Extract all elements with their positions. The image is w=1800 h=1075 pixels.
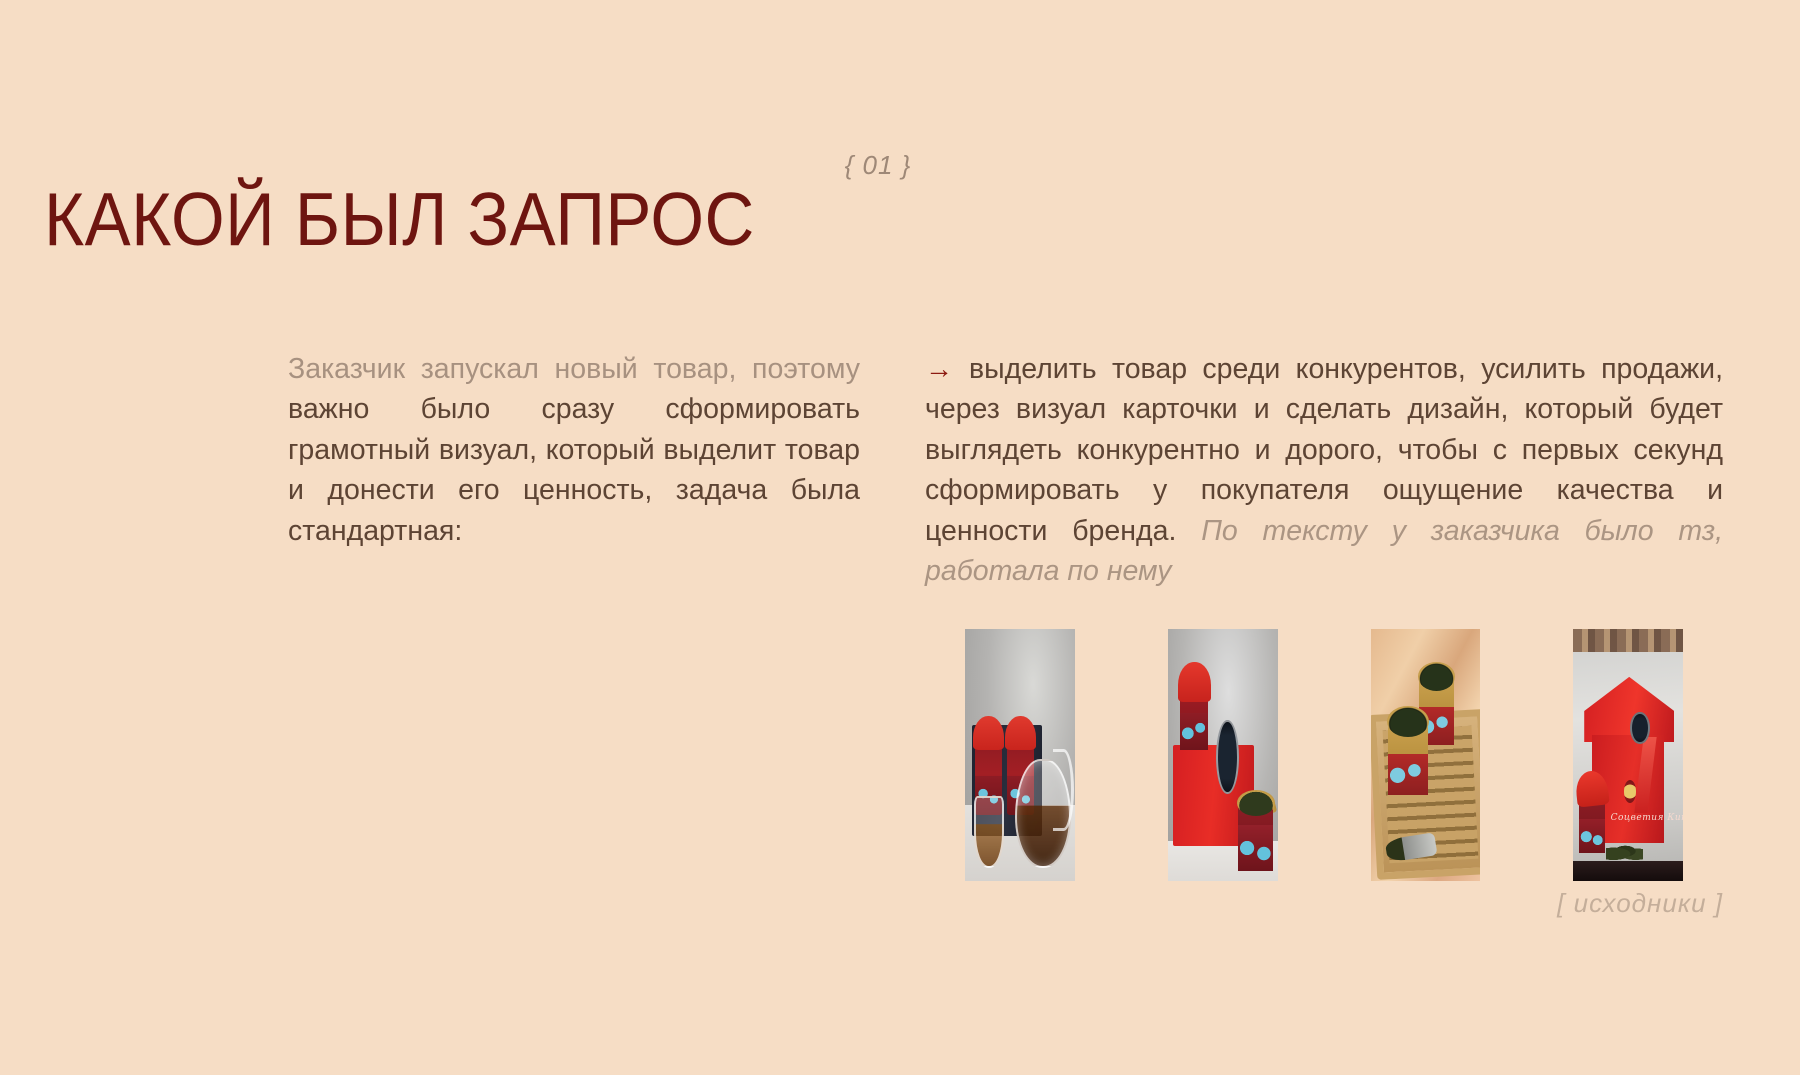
red-box-with-open-tin-image <box>1168 629 1278 881</box>
slide-root: КАКОЙ БЫЛ ЗАПРОС { 01 } Заказчик запуска… <box>0 0 1800 1075</box>
tea-gift-set-with-teapot-image <box>965 629 1075 881</box>
slide-header: КАКОЙ БЫЛ ЗАПРОС { 01 } <box>44 134 911 306</box>
gallery-item[interactable] <box>965 629 1075 881</box>
house-shaped-gift-box-image: Соцветия Китая <box>1573 629 1683 881</box>
gift-box-script-label: Соцветия Китая <box>1611 813 1683 823</box>
arrow-right-icon: → <box>925 353 969 384</box>
right-text-column: →выделить товар среди конкурентов, усили… <box>925 349 1723 592</box>
left-paragraph-rest: важно было сразу сформировать грамотный … <box>288 393 860 546</box>
right-paragraph: →выделить товар среди конкурентов, усили… <box>925 349 1723 592</box>
page-title: КАКОЙ БЫЛ ЗАПРОС <box>44 184 755 255</box>
gallery-item[interactable]: Соцветия Китая <box>1573 629 1683 881</box>
section-number-badge: { 01 } <box>845 150 912 181</box>
left-text-column: Заказчик запускал новый товар, поэтому в… <box>288 349 860 551</box>
source-photo-gallery: Соцветия Китая <box>925 613 1723 865</box>
tins-on-bamboo-tray-image <box>1371 629 1481 881</box>
gallery-caption: [ исходники ] <box>925 888 1723 919</box>
left-paragraph-lead: Заказчик запускал новый товар, поэтому <box>288 353 860 385</box>
gallery-item[interactable] <box>1168 629 1278 881</box>
left-paragraph: Заказчик запускал новый товар, поэтому в… <box>288 349 860 551</box>
gallery-item[interactable] <box>1371 629 1481 881</box>
